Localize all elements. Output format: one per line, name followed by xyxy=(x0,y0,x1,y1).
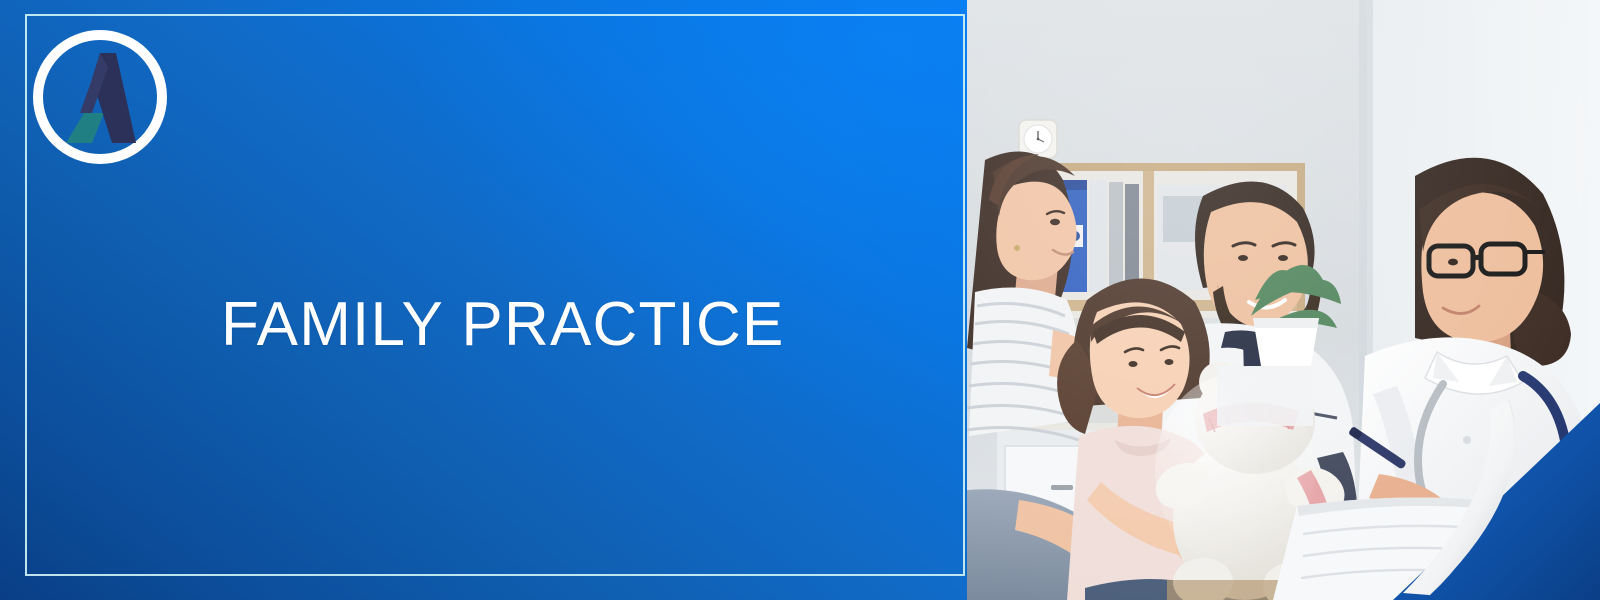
family-practice-banner: FAMILY PRACTICE xyxy=(0,0,1600,600)
page-title: FAMILY PRACTICE xyxy=(221,292,785,358)
left-blue-panel: FAMILY PRACTICE xyxy=(0,0,967,600)
logo-accent-shape xyxy=(66,113,104,143)
family-with-doctor-photo xyxy=(967,0,1600,600)
brand-logo[interactable] xyxy=(32,29,168,165)
